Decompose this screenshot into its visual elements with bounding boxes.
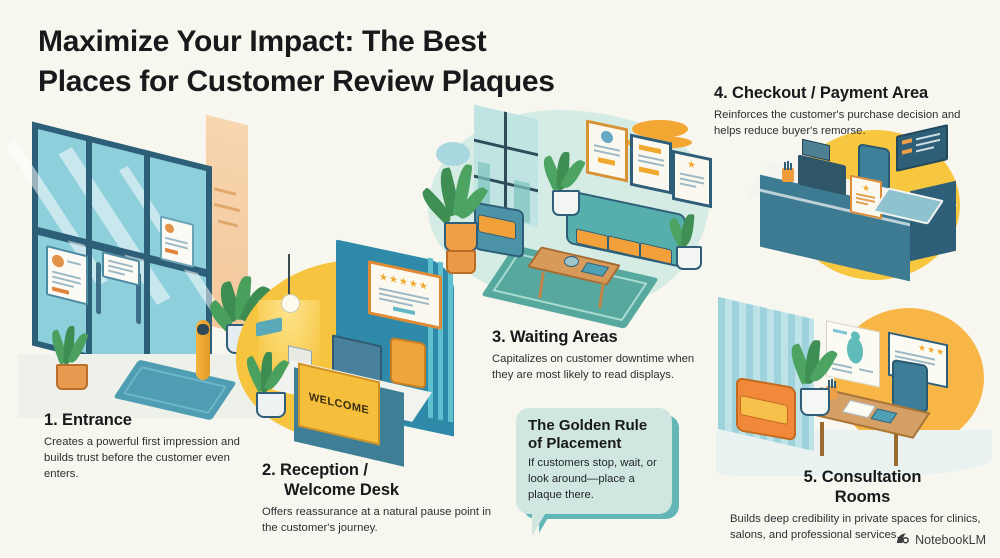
watermark-label: NotebookLM [915,533,986,547]
plant-pot [800,388,830,416]
section-heading-line1: 2. Reception / [262,461,368,479]
framed-certificate: ★ [672,150,712,209]
office-chair [390,337,426,389]
section-body: Reinforces the customer's purchase decis… [714,107,976,139]
page-title: Maximize Your Impact: The Best Places fo… [38,22,638,102]
callout-heading: The Golden Rule of Placement [528,417,660,452]
pen-cup [782,168,794,182]
section-body: Offers reassurance at a natural pause po… [262,504,492,536]
plant-pot [552,190,580,216]
section-heading-line1: 5. Consultation [804,468,922,486]
section-reception-desk: 2. Reception / Welcome Desk Offers reass… [262,461,502,536]
illustration-checkout-counter: ★ [740,124,990,290]
plant-pot [444,222,478,252]
door-mullion [144,149,150,374]
review-plaque [160,215,194,267]
section-entrance: 1. Entrance Creates a powerful first imp… [44,411,259,482]
section-heading: 4. Checkout / Payment Area [714,84,984,104]
door-handle[interactable] [96,262,101,315]
callout-body: The Golden Rule of Placement If customer… [516,408,672,514]
section-body: Creates a powerful first impression and … [44,434,244,482]
section-heading: 5. Consultation Rooms [730,468,995,508]
framed-certificate [630,134,672,195]
section-checkout-area: 4. Checkout / Payment Area Reinforces th… [714,84,984,139]
review-plaque [46,245,88,305]
framed-certificate [586,120,628,183]
infographic-canvas: ★★★★★ WELCOME [0,0,1000,558]
section-waiting-areas: 3. Waiting Areas Capitalizes on customer… [492,328,707,383]
entrance-bollard [196,320,210,380]
section-heading: 2. Reception / Welcome Desk [262,461,502,501]
illustration-reception-desk: ★★★★★ WELCOME [232,252,502,467]
page-title-line1: Maximize Your Impact: The Best [38,22,638,62]
section-body: Capitalizes on customer downtime when th… [492,351,702,383]
golden-rule-callout: The Golden Rule of Placement If customer… [516,408,672,514]
illustration-consultation-room: ★★★ [716,304,994,476]
plant-pot [446,250,476,274]
callout-text: If customers stop, wait, or look around—… [528,456,660,503]
plant-pot [676,246,702,270]
door-mullion [86,135,92,360]
section-heading-line2: Welcome Desk [284,481,502,501]
pendant-lamp [281,294,300,313]
section-heading: 3. Waiting Areas [492,328,707,348]
table-bowl [564,256,579,267]
section-heading: 1. Entrance [44,411,259,431]
pendant-lamp-cord [288,254,290,296]
callout-heading-line2: of Placement [528,435,660,453]
page-title-line2: Places for Customer Review Plaques [38,62,638,102]
plant-pot [256,392,286,418]
plant-pot [56,364,88,390]
decorative-blob [436,142,470,166]
notebooklm-logo-icon [896,532,910,548]
callout-heading-line1: The Golden Rule [528,417,660,435]
section-heading-line2: Rooms [730,488,995,508]
watermark: NotebookLM [896,532,986,548]
